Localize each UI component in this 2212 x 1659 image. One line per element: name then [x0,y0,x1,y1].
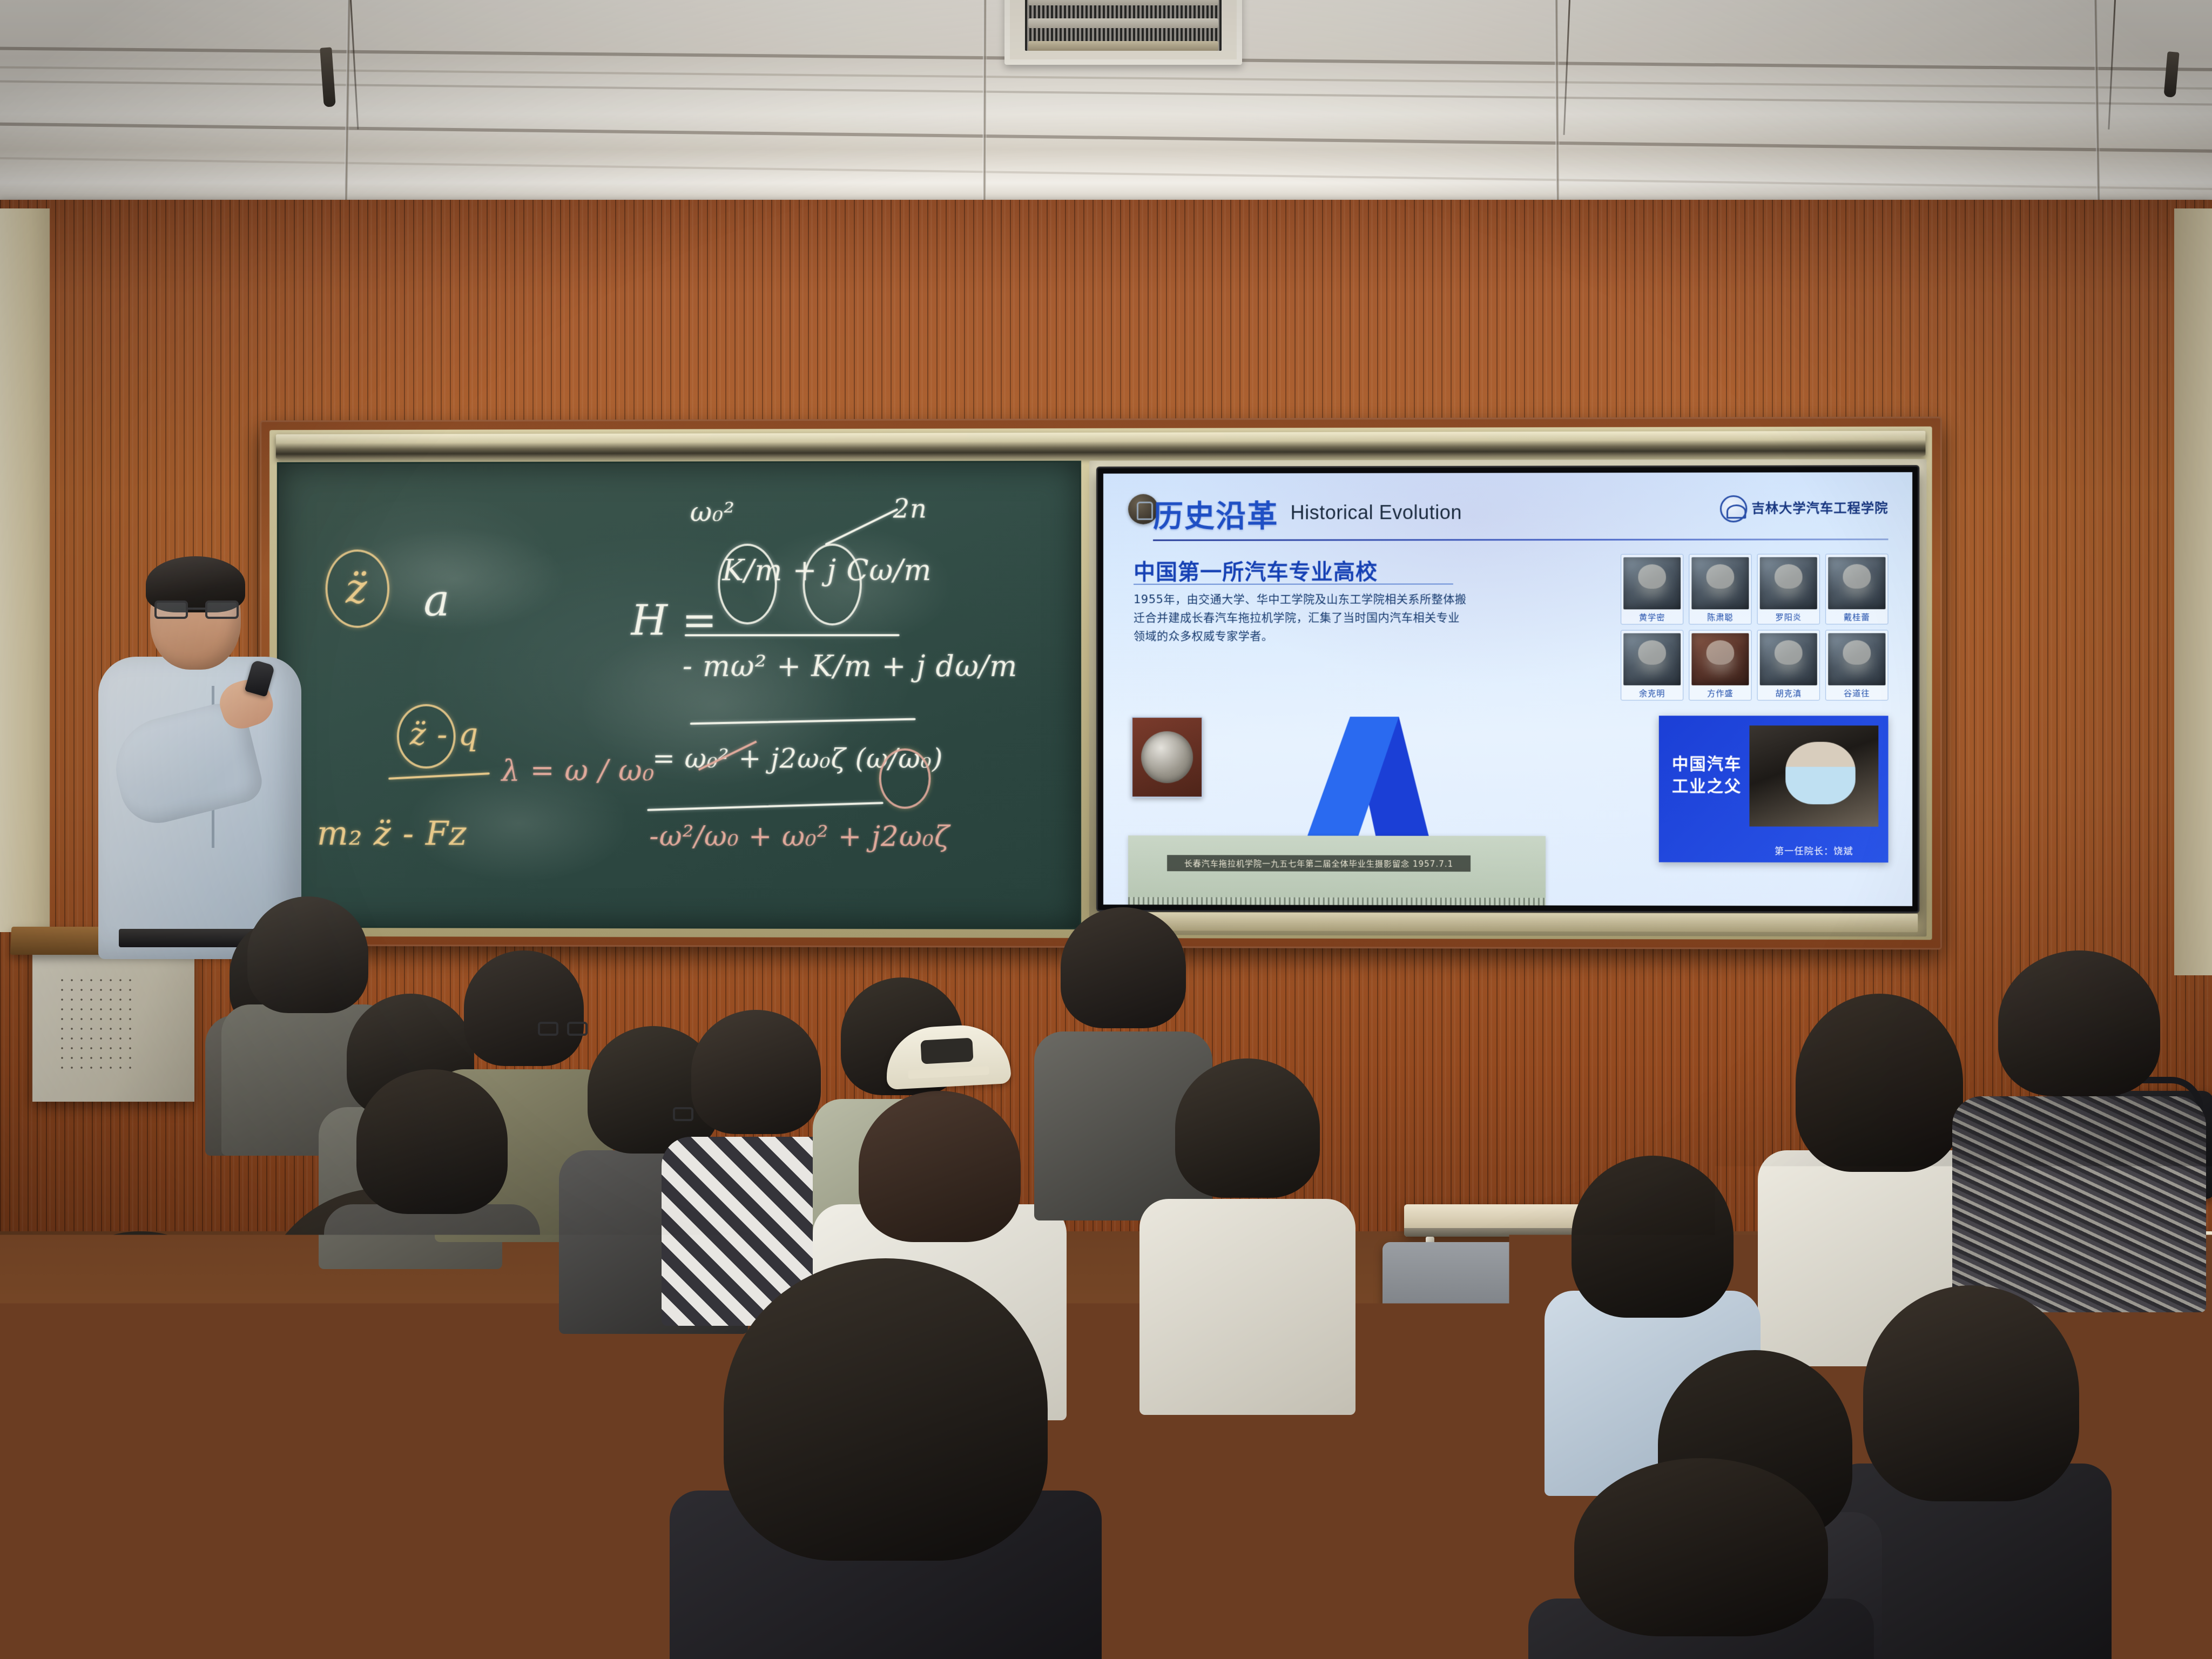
portrait-photo [1828,557,1885,609]
portrait-cell: 余克明 [1621,630,1683,701]
equation-omega0-sq: ω₀² [690,496,735,528]
wall-left-column [0,208,50,932]
portrait-photo [1691,557,1749,610]
portrait-grid: 黄学密 陈肃聪 罗阳炎 [1621,554,1888,700]
equation-lambda: λ = ω / ω₀ [502,753,655,787]
slide-subheading: 中国第一所汽车专业高校 [1134,554,1378,586]
father-card-label: 中国汽车 工业之父 [1672,754,1742,798]
portrait-photo [1760,557,1817,610]
equation-m2-zddot: m₂ z̈ - Fᴢ [317,813,467,853]
portrait-caption: 余克明 [1623,687,1681,699]
portrait-cell: 方作盛 [1689,630,1751,700]
commemorative-medal-photo [1131,717,1203,798]
student [335,1069,529,1361]
portrait-caption: 胡克滇 [1760,687,1817,699]
header-divider [1153,538,1888,541]
chalkboard: z̈ a z̈ - q m₂ z̈ - Fᴢ λ = ω / ω₀ ω₀² 2n… [277,461,1081,929]
father-card-line2: 工业之父 [1672,777,1742,795]
projection-screen-housing: 历史沿革 Historical Evolution 吉林大学汽车工程学院 中国第… [1089,459,1926,936]
lectern-podium [32,950,194,1102]
portrait-cell: 胡克滇 [1757,630,1820,700]
first-dean-caption: 第一任院长：饶斌 [1749,844,1878,857]
portrait-caption: 谷道往 [1828,687,1885,699]
father-of-auto-industry-card: 中国汽车 工业之父 第一任院长：饶斌 [1659,716,1889,862]
slide-body-text: 1955年，由交通大学、华中工学院及山东工学院相关系所整体搬迁合并建成长春汽车拖… [1134,590,1469,645]
equation-numerator: K/m + j Cω/m [722,553,932,587]
portrait-photo [1760,633,1817,685]
university-name-chinese: 吉林大学汽车工程学院 [1751,502,1888,516]
portrait-caption: 方作盛 [1691,687,1749,699]
presentation-slide: 历史沿革 Historical Evolution 吉林大学汽车工程学院 中国第… [1103,472,1912,906]
student [697,1258,1075,1659]
portrait-caption: 黄学密 [1623,611,1681,623]
portrait-photo [1691,633,1749,685]
equation-H: H = [631,597,718,645]
equation-2n: 2n [893,494,927,524]
screen-footer-bar [1098,912,1918,932]
group-photo-banner: 长春汽车拖拉机学院一九五七年第二届全体毕业生摄影留念 1957.7.1 [1167,855,1471,872]
ceiling [0,0,2212,208]
slide-title-chinese: 历史沿革 [1153,491,1278,535]
screen-bezel: 历史沿革 Historical Evolution 吉林大学汽车工程学院 中国第… [1098,467,1918,912]
university-seal-icon [1720,495,1748,522]
lecturer-glasses [154,601,239,619]
wall-right-column [2174,208,2212,975]
slide-header: 历史沿革 Historical Evolution 吉林大学汽车工程学院 [1128,491,1889,542]
student [1150,1058,1345,1393]
student [1966,950,2193,1296]
equation-denominator: - mω² + K/m + j dω/m [683,649,1017,683]
blackboard-and-screen-unit: z̈ a z̈ - q m₂ z̈ - Fᴢ λ = ω / ω₀ ω₀² 2n… [260,416,1942,949]
board-top-rail [276,431,1926,459]
chair-back [1382,1242,1523,1426]
portrait-cell: 陈肃聪 [1689,554,1751,625]
portrait-cell: 谷道往 [1825,630,1888,700]
portrait-photo [1623,557,1681,610]
portrait-cell: 戴桂蕾 [1825,554,1888,624]
equation-z-minus-q: z̈ - q [410,716,479,753]
slide-title-english: Historical Evolution [1291,501,1462,524]
student [1847,1285,2095,1659]
equation-final-denominator: -ω²/ω₀ + ω₀² + j2ω₀ζ [649,820,950,853]
portrait-cell: 黄学密 [1621,554,1683,625]
classroom-scene: z̈ a z̈ - q m₂ z̈ - Fᴢ λ = ω / ω₀ ω₀² 2n… [0,0,2212,1659]
portrait-caption: 罗阳炎 [1760,611,1817,623]
portrait-cell: 罗阳炎 [1757,554,1820,625]
subheading-underline [1134,583,1453,584]
student [16,1231,265,1659]
group-photo: 长春汽车拖拉机学院一九五七年第二届全体毕业生摄影留念 1957.7.1 [1128,835,1546,906]
slide-body: 中国第一所汽车专业高校 1955年，由交通大学、华中工学院及山东工学院相关系所整… [1128,554,1889,900]
university-logo: 吉林大学汽车工程学院 [1720,494,1889,524]
portrait-photo [1828,633,1885,685]
portrait-photo [1623,633,1681,685]
portrait-caption: 戴桂蕾 [1828,611,1885,623]
equation-z-ddot: z̈ [346,564,368,612]
ceiling-ac-vent [1004,0,1242,65]
student [1550,1458,1852,1659]
father-card-line1: 中国汽车 [1672,755,1742,774]
first-dean-photo [1749,725,1878,826]
speaker-grille [57,975,138,1073]
equation-a: a [423,575,450,626]
portrait-caption: 陈肃聪 [1691,611,1749,623]
